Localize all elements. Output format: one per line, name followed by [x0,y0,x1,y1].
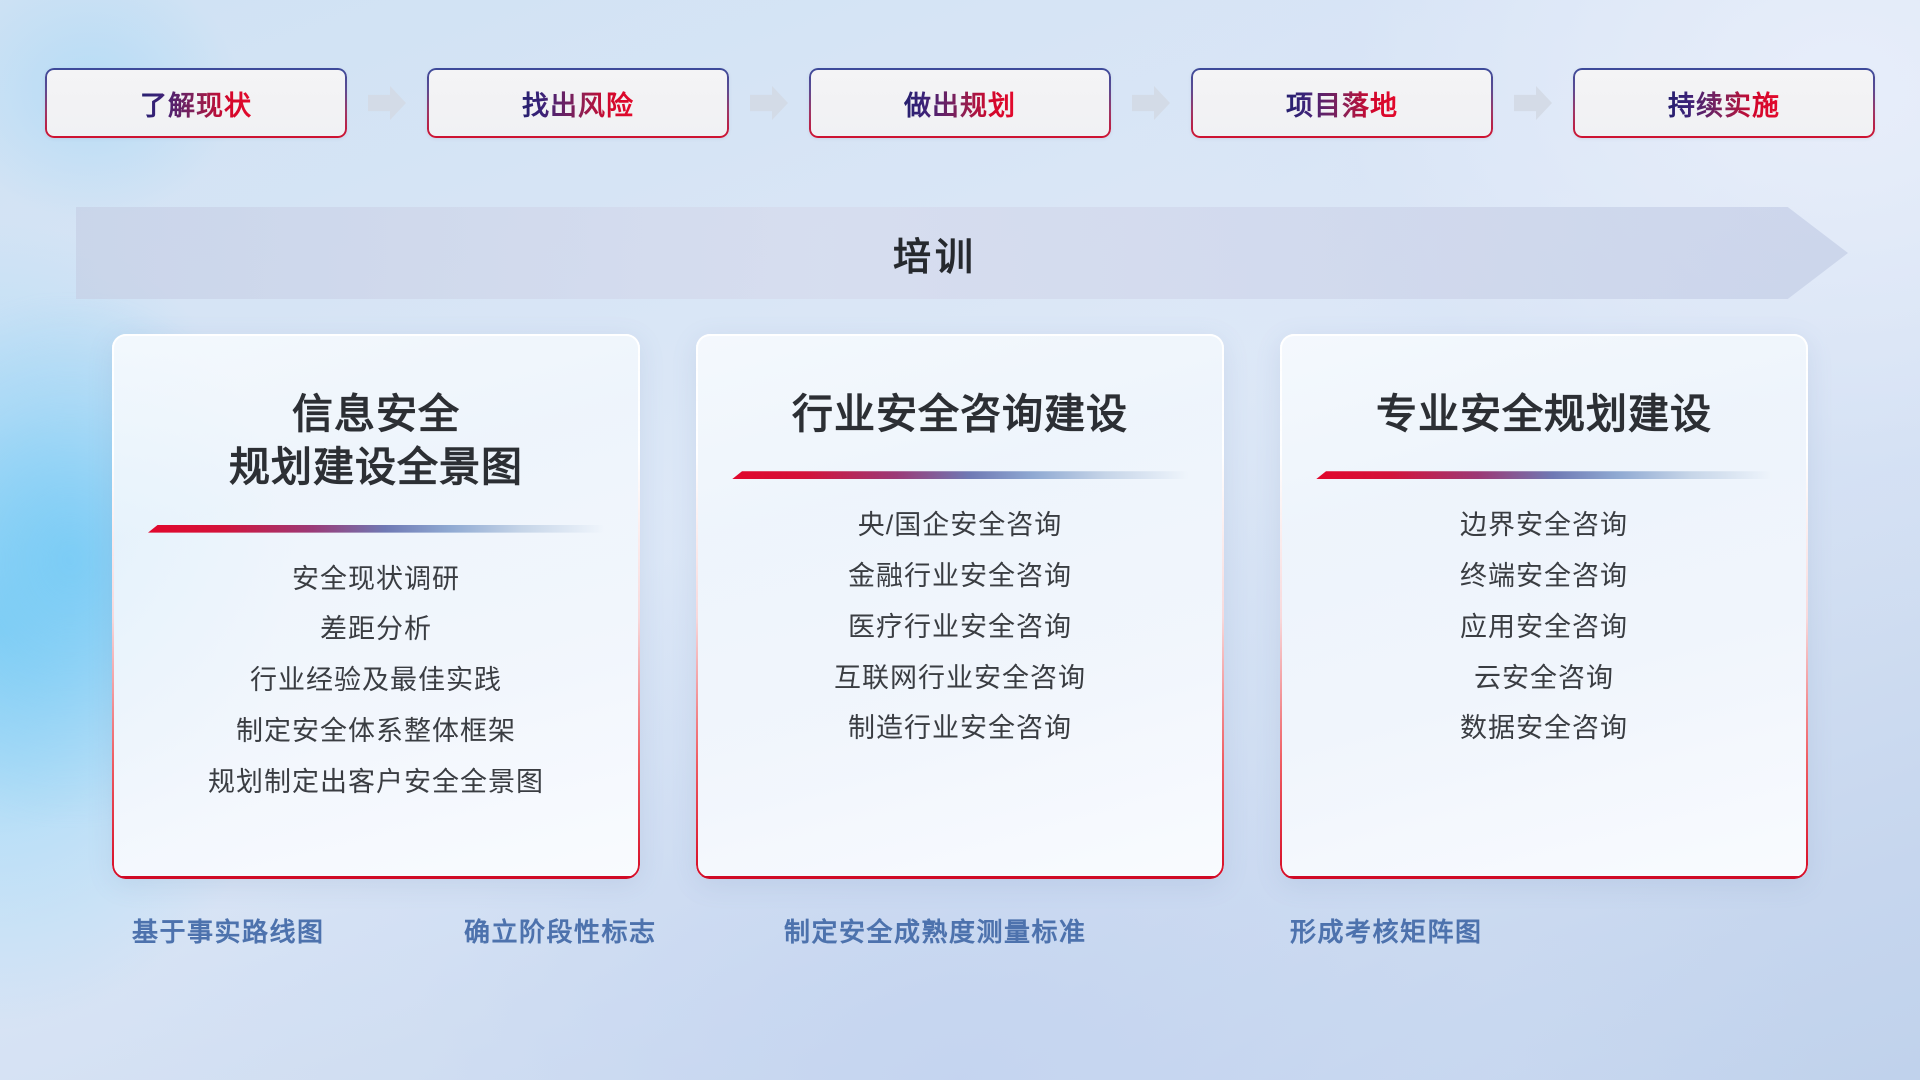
list-item: 规划制定出客户安全全景图 [208,766,544,800]
flow-arrow-icon-3 [1132,86,1170,120]
list-item: 制定安全体系整体框架 [236,715,516,749]
list-item: 边界安全咨询 [1460,509,1628,543]
training-banner-arrow: 培训 [76,207,1848,299]
list-item: 云安全咨询 [1474,662,1614,696]
service-card-2-divider [732,471,1188,479]
flow-arrow-icon-4 [1514,86,1552,120]
list-item: 金融行业安全咨询 [848,560,1072,594]
list-item: 安全现状调研 [292,563,460,597]
bottom-label-2: 确立阶段性标志 [464,912,657,949]
flow-step-5-label: 持续实施 [1668,84,1780,123]
flow-step-3-label: 做出规划 [904,84,1016,123]
list-item: 制造行业安全咨询 [848,712,1072,746]
list-item: 数据安全咨询 [1460,712,1628,746]
flow-step-1[interactable]: 了解现状 [45,68,347,138]
flow-step-2[interactable]: 找出风险 [427,68,729,138]
service-card-3-divider [1316,471,1772,479]
service-card-1[interactable]: 信息安全 规划建设全景图 安全现状调研 差距分析 行业经验及最佳实践 制定安全体… [112,334,640,879]
flow-step-4[interactable]: 项目落地 [1191,68,1493,138]
service-cards-row: 信息安全 规划建设全景图 安全现状调研 差距分析 行业经验及最佳实践 制定安全体… [0,334,1920,879]
list-item: 应用安全咨询 [1460,611,1628,645]
service-card-1-divider [148,525,604,533]
list-item: 行业经验及最佳实践 [250,664,502,698]
flow-step-4-label: 项目落地 [1286,84,1398,123]
service-card-2[interactable]: 行业安全咨询建设 央/国企安全咨询 金融行业安全咨询 医疗行业安全咨询 互联网行… [696,334,1224,879]
list-item: 央/国企安全咨询 [858,509,1063,543]
service-card-3-title: 专业安全规划建设 [1376,388,1712,441]
process-flow-row: 了解现状 找出风险 做出规划 项目落地 持续实施 [0,68,1920,138]
flow-step-2-label: 找出风险 [522,84,634,123]
list-item: 终端安全咨询 [1460,560,1628,594]
service-card-3[interactable]: 专业安全规划建设 边界安全咨询 终端安全咨询 应用安全咨询 云安全咨询 数据安全… [1280,334,1808,879]
list-item: 医疗行业安全咨询 [848,611,1072,645]
flow-step-1-label: 了解现状 [140,84,252,123]
service-card-1-list: 安全现状调研 差距分析 行业经验及最佳实践 制定安全体系整体框架 规划制定出客户… [142,563,610,800]
bottom-labels-row: 基于事实路线图 确立阶段性标志 制定安全成熟度测量标准 形成考核矩阵图 [0,912,1920,964]
service-card-2-list: 央/国企安全咨询 金融行业安全咨询 医疗行业安全咨询 互联网行业安全咨询 制造行… [726,509,1194,746]
bottom-label-3: 制定安全成熟度测量标准 [784,912,1087,949]
service-card-1-title: 信息安全 规划建设全景图 [229,388,523,495]
service-card-2-title: 行业安全咨询建设 [792,388,1128,441]
list-item: 互联网行业安全咨询 [834,662,1086,696]
flow-step-5[interactable]: 持续实施 [1573,68,1875,138]
service-card-3-list: 边界安全咨询 终端安全咨询 应用安全咨询 云安全咨询 数据安全咨询 [1310,509,1778,746]
flow-step-3[interactable]: 做出规划 [809,68,1111,138]
flow-arrow-icon-2 [750,86,788,120]
list-item: 差距分析 [320,613,432,647]
bottom-label-4: 形成考核矩阵图 [1290,912,1483,949]
training-banner-label: 培训 [893,226,977,281]
flow-arrow-icon-1 [368,86,406,120]
bottom-label-1: 基于事实路线图 [132,912,325,949]
